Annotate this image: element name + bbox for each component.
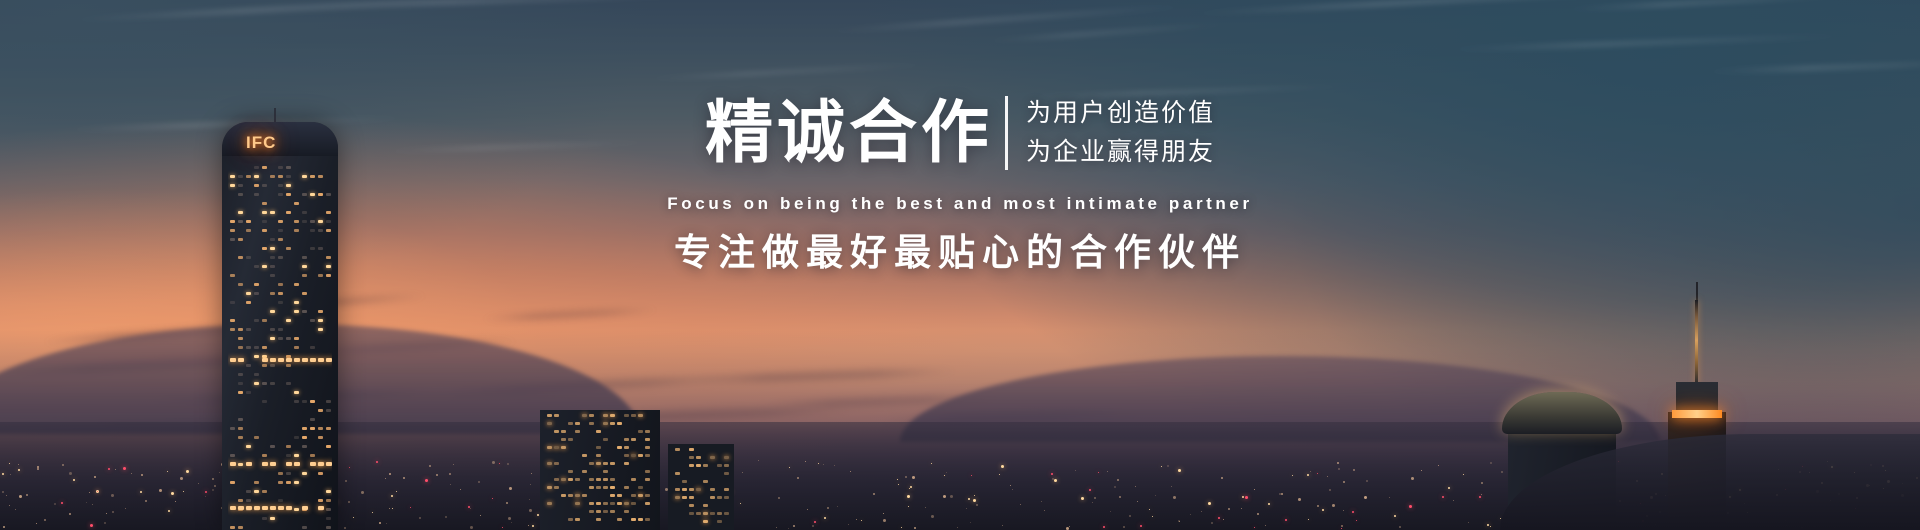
banner-copy: 精诚合作 为用户创造价值 为企业赢得朋友 Focus on being the … <box>0 96 1920 271</box>
spire-tip <box>1696 282 1698 302</box>
tagline-list: 为用户创造价值 为企业赢得朋友 <box>1026 101 1215 165</box>
midground-building-1 <box>540 410 660 530</box>
page-title: 精诚合作 <box>705 99 993 167</box>
spire-light-band <box>1672 410 1722 418</box>
headline-divider <box>1005 96 1008 170</box>
hero-banner: IFC 精诚合作 为用户创造价值 为企业赢得朋友 Focus on being … <box>0 0 1920 530</box>
subtitle-english: Focus on being the best and most intimat… <box>0 194 1920 214</box>
tagline-2: 为企业赢得朋友 <box>1026 140 1215 165</box>
subtitle-chinese: 专注做最好最贴心的合作伙伴 <box>0 234 1920 271</box>
headline-row: 精诚合作 为用户创造价值 为企业赢得朋友 <box>0 96 1920 170</box>
midground-building-2 <box>668 444 734 530</box>
spire-needle <box>1695 300 1698 384</box>
tagline-1: 为用户创造价值 <box>1026 101 1215 126</box>
